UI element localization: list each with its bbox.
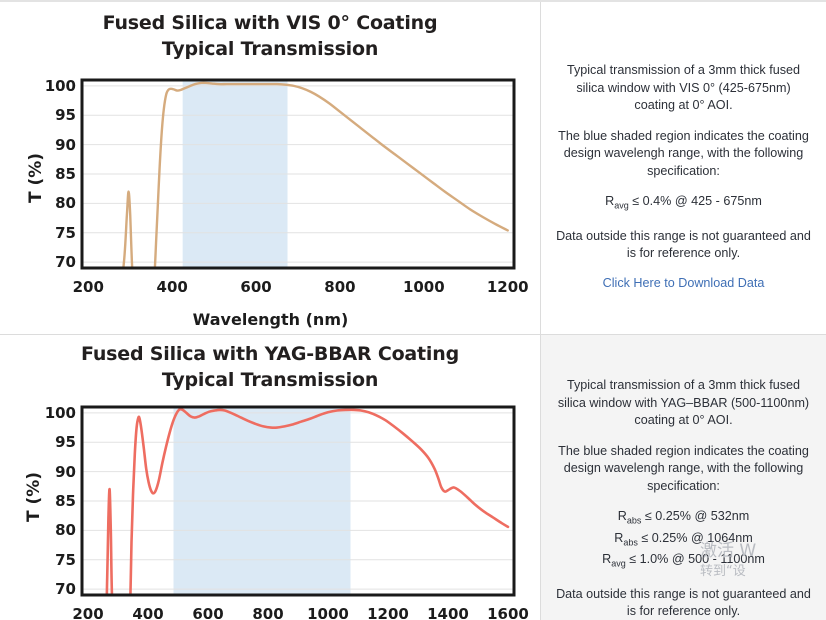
y-tick-label: 85	[34, 492, 76, 510]
y-tick-label: 95	[34, 106, 76, 124]
yag-disclaimer: Data outside this range is not guarantee…	[555, 586, 812, 620]
x-tick-label: 400	[142, 278, 202, 296]
vis-x-axis-label: Wavelength (nm)	[0, 310, 541, 329]
x-tick-label: 1000	[394, 278, 454, 296]
x-tick-label: 1200	[478, 278, 538, 296]
spec-value: ≤ 0.25% @ 532nm	[641, 509, 749, 523]
yag-plot-svg	[82, 407, 514, 595]
y-tick-label: 95	[34, 433, 76, 451]
spec-subscript: abs	[623, 537, 638, 547]
yag-chart-cell: Fused Silica with YAG-BBAR Coating Typic…	[0, 335, 541, 620]
spec-line: Rabs ≤ 0.25% @ 1064nm	[555, 530, 812, 552]
vis-disclaimer: Data outside this range is not guarantee…	[555, 228, 812, 263]
y-tick-label: 75	[34, 224, 76, 242]
y-tick-label: 85	[34, 165, 76, 183]
spec-value: ≤ 1.0% @ 500 - 1100nm	[626, 552, 765, 566]
vis-shaded-note: The blue shaded region indicates the coa…	[555, 128, 812, 181]
x-tick-label: 600	[178, 605, 238, 620]
x-tick-label: 1000	[298, 605, 358, 620]
yag-spec-list: Rabs ≤ 0.25% @ 532nmRabs ≤ 0.25% @ 1064n…	[555, 508, 812, 573]
x-tick-label: 800	[238, 605, 298, 620]
spec-subscript: avg	[611, 559, 626, 569]
x-tick-label: 600	[226, 278, 286, 296]
x-tick-label: 200	[58, 605, 118, 620]
x-tick-label: 1400	[418, 605, 478, 620]
x-tick-label: 1600	[478, 605, 538, 620]
spec-symbol: R	[618, 509, 627, 523]
y-tick-label: 70	[34, 253, 76, 271]
page-root: Fused Silica with VIS 0° Coating Typical…	[0, 0, 826, 620]
spec-value: ≤ 0.4% @ 425 - 675nm	[629, 194, 762, 208]
y-tick-label: 80	[34, 521, 76, 539]
x-tick-label: 1200	[358, 605, 418, 620]
vis-description-cell: Typical transmission of a 3mm thick fuse…	[541, 2, 826, 334]
yag-description: Typical transmission of a 3mm thick fuse…	[555, 377, 812, 430]
vis-plot-wrap: T (%) Wavelength (nm) 707580859095100200…	[0, 2, 541, 334]
spec-symbol: R	[602, 552, 611, 566]
y-tick-label: 90	[34, 136, 76, 154]
spec-line: Ravg ≤ 1.0% @ 500 - 1100nm	[555, 551, 812, 573]
vis-spec-list: Ravg ≤ 0.4% @ 425 - 675nm	[555, 193, 812, 215]
vis-download-data-link[interactable]: Click Here to Download Data	[555, 276, 812, 290]
vis-chart-cell: Fused Silica with VIS 0° Coating Typical…	[0, 2, 541, 334]
spec-symbol: R	[614, 531, 623, 545]
spec-subscript: abs	[627, 516, 642, 526]
spec-line: Rabs ≤ 0.25% @ 532nm	[555, 508, 812, 530]
y-tick-label: 90	[34, 463, 76, 481]
spec-value: ≤ 0.25% @ 1064nm	[638, 531, 753, 545]
spec-line: Ravg ≤ 0.4% @ 425 - 675nm	[555, 193, 812, 215]
yag-shaded-note: The blue shaded region indicates the coa…	[555, 443, 812, 496]
spec-subscript: avg	[614, 201, 629, 211]
y-tick-label: 75	[34, 551, 76, 569]
y-tick-label: 100	[34, 77, 76, 95]
x-tick-label: 200	[58, 278, 118, 296]
x-tick-label: 800	[310, 278, 370, 296]
spec-symbol: R	[605, 194, 614, 208]
x-tick-label: 400	[118, 605, 178, 620]
vis-plot-svg	[82, 80, 514, 268]
panel-row-vis: Fused Silica with VIS 0° Coating Typical…	[0, 2, 826, 334]
y-tick-label: 80	[34, 194, 76, 212]
panel-row-yag: Fused Silica with YAG-BBAR Coating Typic…	[0, 334, 826, 620]
y-tick-label: 100	[34, 404, 76, 422]
yag-description-cell: Typical transmission of a 3mm thick fuse…	[541, 335, 826, 620]
y-tick-label: 70	[34, 580, 76, 598]
yag-plot-wrap: T (%) 7075808590951002004006008001000120…	[0, 335, 541, 620]
vis-description: Typical transmission of a 3mm thick fuse…	[555, 62, 812, 115]
